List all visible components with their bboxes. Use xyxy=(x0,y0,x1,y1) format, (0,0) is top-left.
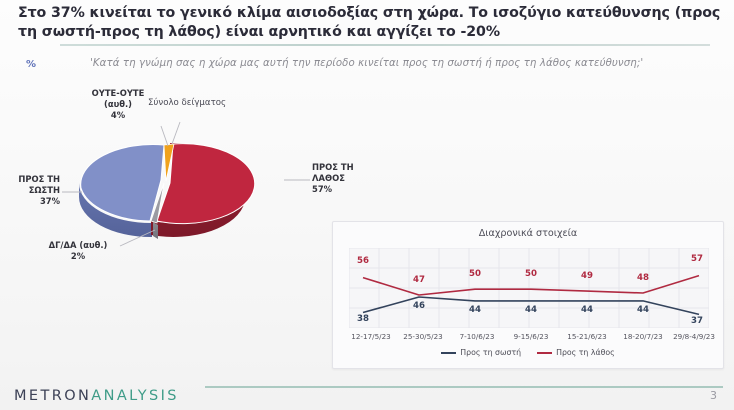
value-label-right-2: 44 xyxy=(469,305,481,315)
pie-label-right-line1: ΠΡΟΣ ΤΗ xyxy=(0,174,60,185)
value-label-wrong-0: 56 xyxy=(357,256,369,266)
legend-swatch-wrong xyxy=(537,352,552,354)
value-label-right-4: 44 xyxy=(581,305,593,315)
value-label-right-1: 46 xyxy=(413,301,425,311)
trend-panel-title: Διαχρονικά στοιχεία xyxy=(333,228,723,239)
pie-label-wrong: ΠΡΟΣ ΤΗ ΛΑΘΟΣ 57% xyxy=(312,162,354,195)
slide-root: Στο 37% κινείται το γενικό κλίμα αισιοδο… xyxy=(0,0,734,410)
x-tick-3: 9-15/6/23 xyxy=(514,332,549,341)
value-label-right-0: 38 xyxy=(357,314,369,324)
pie-label-neither-line2: (αυθ.) xyxy=(76,99,160,110)
leader-line-sample xyxy=(172,122,180,144)
pie-chart: Σύνολο δείγματος ΠΡΟΣ ΤΗ ΛΑΘΟΣ 57% ΠΡΟΣ … xyxy=(60,120,320,255)
pie-label-neither-value: 4% xyxy=(76,110,160,121)
x-tick-0: 12-17/5/23 xyxy=(351,332,390,341)
percent-symbol: % xyxy=(26,59,36,70)
pie-label-neither-line1: ΟΥΤΕ-ΟΥΤΕ xyxy=(76,88,160,99)
value-label-wrong-4: 49 xyxy=(581,271,593,281)
x-tick-5: 18-20/7/23 xyxy=(623,332,662,341)
pie-label-neither: ΟΥΤΕ-ΟΥΤΕ (αυθ.) 4% xyxy=(76,88,160,121)
legend-item-wrong[interactable]: Προς τη λάθος xyxy=(537,348,615,357)
pie-label-right-value: 37% xyxy=(0,196,60,207)
trend-series-svg xyxy=(349,248,709,328)
trend-plot: 56 47 50 50 49 48 57 38 46 44 44 44 44 3… xyxy=(349,248,709,328)
page-number: 3 xyxy=(710,389,717,402)
trend-legend: Προς τη σωστή Προς τη λάθος xyxy=(333,348,723,357)
legend-swatch-right xyxy=(441,352,456,354)
value-label-right-5: 44 xyxy=(637,305,649,315)
pie-label-wrong-line1: ΠΡΟΣ ΤΗ xyxy=(312,162,354,173)
legend-label-wrong: Προς τη λάθος xyxy=(556,348,615,357)
value-label-wrong-3: 50 xyxy=(525,269,537,279)
trend-panel: Διαχρονικά στοιχεία xyxy=(332,221,724,369)
brand-logo-part1: METRON xyxy=(14,388,91,404)
pie-stage xyxy=(60,120,320,255)
value-label-right-6: 37 xyxy=(691,316,703,326)
legend-label-right: Προς τη σωστή xyxy=(460,348,521,357)
brand-logo: METRONANALYSIS xyxy=(14,388,179,404)
leader-line-neither xyxy=(161,126,168,146)
page-title: Στο 37% κινείται το γενικό κλίμα αισιοδο… xyxy=(18,4,724,42)
value-label-wrong-5: 48 xyxy=(637,273,649,283)
x-tick-6: 29/8-4/9/23 xyxy=(673,332,715,341)
footer-divider xyxy=(205,386,723,388)
legend-item-right[interactable]: Προς τη σωστή xyxy=(441,348,521,357)
pie-svg xyxy=(60,120,320,255)
brand-logo-part2: ANALYSIS xyxy=(91,388,179,404)
pie-label-dk: ΔΓ/ΔΑ (αυθ.) 2% xyxy=(36,240,120,262)
pie-label-wrong-value: 57% xyxy=(312,184,354,195)
pie-label-wrong-line2: ΛΑΘΟΣ xyxy=(312,173,354,184)
value-label-right-3: 44 xyxy=(525,305,537,315)
x-tick-4: 15-21/6/23 xyxy=(567,332,606,341)
survey-question: 'Κατά τη γνώμη σας η χώρα μας αυτή την π… xyxy=(90,58,643,69)
header-divider xyxy=(60,44,710,46)
x-tick-2: 7-10/6/23 xyxy=(460,332,495,341)
value-label-wrong-2: 50 xyxy=(469,269,481,279)
pie-label-right: ΠΡΟΣ ΤΗ ΣΩΣΤΗ 37% xyxy=(0,174,60,207)
pie-label-right-line2: ΣΩΣΤΗ xyxy=(0,185,60,196)
value-label-wrong-6: 57 xyxy=(691,254,703,264)
x-tick-1: 25-30/5/23 xyxy=(403,332,442,341)
trend-x-axis: 12-17/5/23 25-30/5/23 7-10/6/23 9-15/6/2… xyxy=(349,332,709,344)
pie-label-dk-value: 2% xyxy=(36,251,120,262)
value-label-wrong-1: 47 xyxy=(413,275,425,285)
pie-label-dk-line1: ΔΓ/ΔΑ (αυθ.) xyxy=(36,240,120,251)
